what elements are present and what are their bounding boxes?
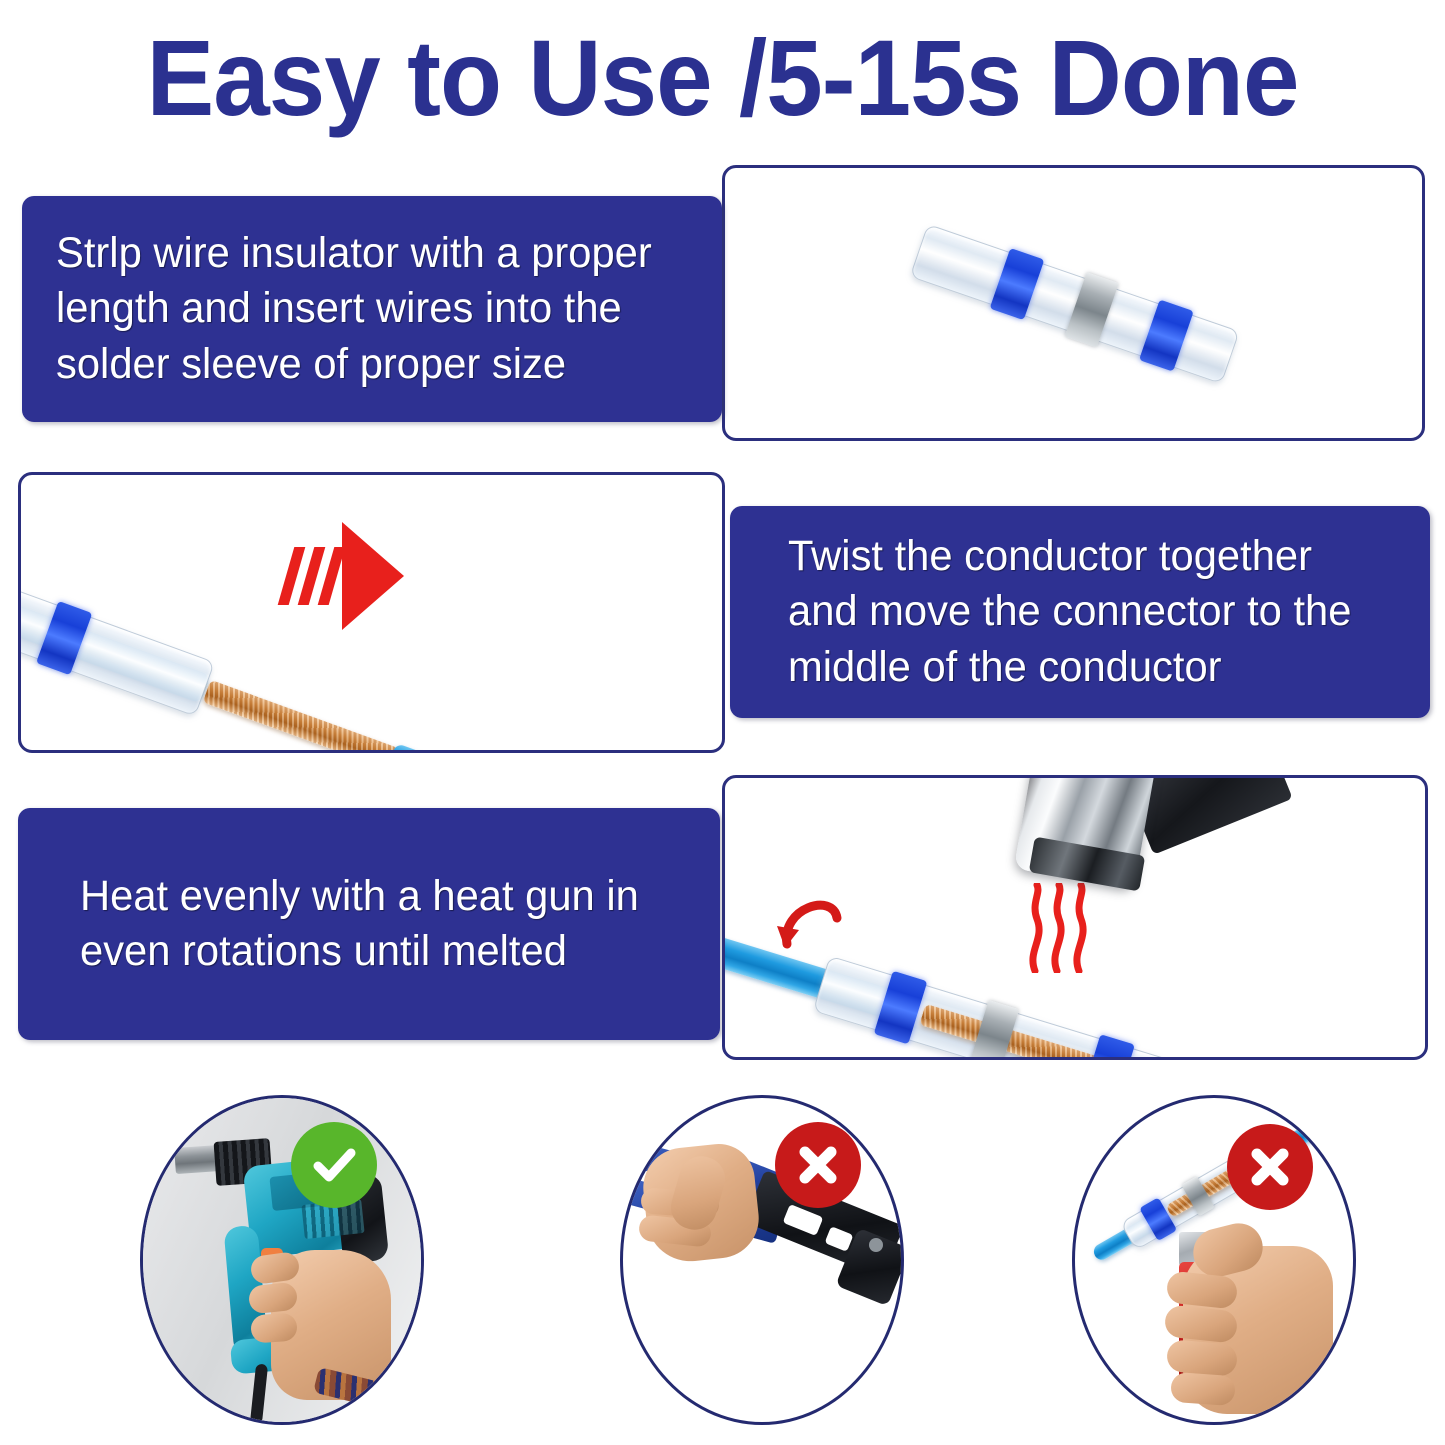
connector-assembly [895,178,1256,427]
step-1-text: Strlp wire insulator with a proper lengt… [56,226,677,391]
cross-icon [775,1122,861,1208]
step-2-text: Twist the conductor together and move th… [788,529,1391,694]
step-3-text: Heat evenly with a heat gun in even rota… [80,869,681,979]
step-2-text-card: Twist the conductor together and move th… [730,506,1430,718]
finger-icon [1170,1372,1236,1406]
not-recommended-tool-lighter [1072,1095,1356,1425]
not-recommended-tool-crimping-pliers [620,1095,904,1425]
infographic-page: Easy to Use /5-15s Done Strlp wire insul… [0,0,1445,1445]
finger-icon [250,1312,298,1343]
step-2-image-panel [18,472,725,753]
cross-icon [1227,1124,1313,1210]
finger-icon [1166,1339,1239,1377]
recommended-tool-heat-gun [140,1095,424,1425]
pliers-pivot-screw-icon [869,1238,883,1252]
copper-conductor-icon [203,680,399,753]
step-1-image-panel [722,165,1425,441]
red-arrow-icon [276,533,436,653]
heat-gun-illustration [725,778,1425,1057]
step-1-text-card: Strlp wire insulator with a proper lengt… [22,196,722,422]
step-3-text-card: Heat evenly with a heat gun in even rota… [18,808,720,1040]
wire-insert-illustration [21,475,722,750]
solder-seal-connector-illustration [725,168,1422,438]
heat-gun-nozzle-icon [1013,775,1273,920]
blue-wire-right-icon [386,743,584,753]
page-title: Easy to Use /5-15s Done [43,24,1401,132]
step-3-image-panel [722,775,1428,1060]
check-icon [291,1122,377,1208]
rotation-arrow-icon [775,878,855,958]
